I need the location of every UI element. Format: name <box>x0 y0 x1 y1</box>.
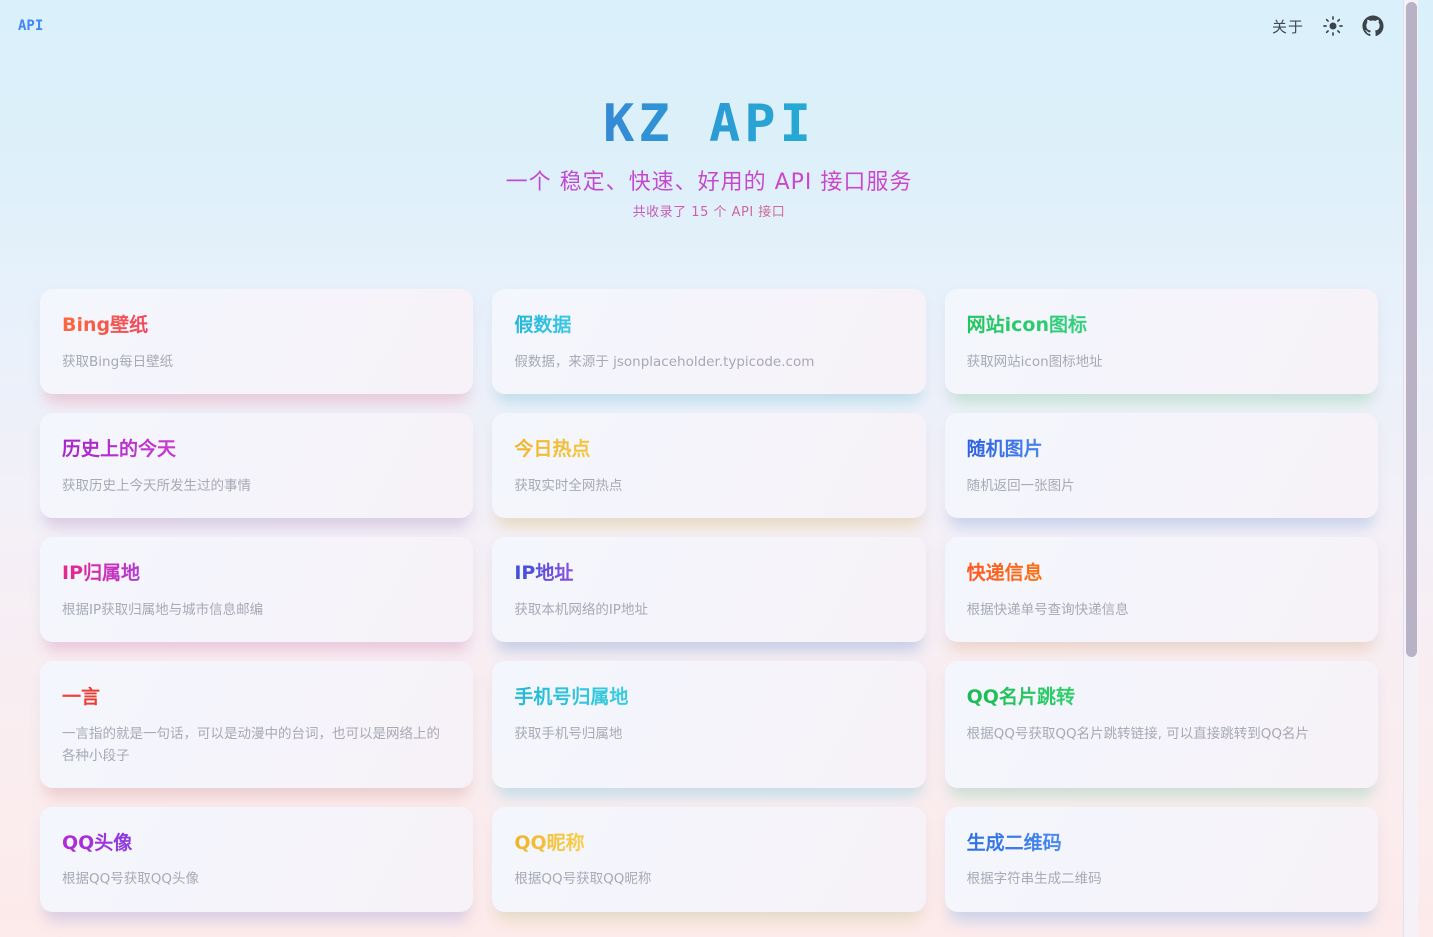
api-card[interactable]: QQ头像根据QQ号获取QQ头像 <box>40 807 473 912</box>
api-card-glow <box>45 778 468 798</box>
api-card-glow <box>497 508 920 528</box>
api-card-description: 获取历史上今天所发生过的事情 <box>62 475 451 497</box>
sun-icon[interactable] <box>1322 15 1344 37</box>
api-card-title: 今日热点 <box>514 437 590 462</box>
api-card-glow <box>497 632 920 652</box>
page-title: KZ API <box>0 92 1418 157</box>
api-card[interactable]: 随机图片随机返回一张图片 <box>945 413 1378 518</box>
api-card[interactable]: Bing壁纸获取Bing每日壁纸 <box>40 289 473 394</box>
api-card[interactable]: 手机号归属地获取手机号归属地 <box>492 661 925 787</box>
api-card-title: QQ名片跳转 <box>967 685 1075 710</box>
api-card-glow <box>950 902 1373 922</box>
api-card-description: 根据快递单号查询快递信息 <box>967 599 1356 621</box>
app-logo[interactable]: API <box>18 19 43 33</box>
api-card-description: 获取本机网络的IP地址 <box>514 599 903 621</box>
api-card-title: 一言 <box>62 685 100 710</box>
page-scrollbar[interactable] <box>1403 0 1418 937</box>
api-card-grid: Bing壁纸获取Bing每日壁纸假数据假数据，来源于 jsonplacehold… <box>0 239 1418 911</box>
api-card[interactable]: 网站icon图标获取网站icon图标地址 <box>945 289 1378 394</box>
api-card-title: 随机图片 <box>967 437 1043 462</box>
api-card-description: 获取网站icon图标地址 <box>967 351 1356 373</box>
api-card-glow <box>497 902 920 922</box>
page-root: API 关于 <box>0 0 1418 937</box>
api-card-description: 获取手机号归属地 <box>514 723 903 745</box>
api-card[interactable]: 一言一言指的就是一句话，可以是动漫中的台词，也可以是网络上的各种小段子 <box>40 661 473 787</box>
api-card[interactable]: QQ名片跳转根据QQ号获取QQ名片跳转链接, 可以直接跳转到QQ名片 <box>945 661 1378 787</box>
api-card-title: Bing壁纸 <box>62 313 148 338</box>
api-card-description: 根据字符串生成二维码 <box>967 868 1356 890</box>
api-card-title: 生成二维码 <box>967 831 1062 856</box>
api-card[interactable]: 快递信息根据快递单号查询快递信息 <box>945 537 1378 642</box>
api-card-glow <box>950 632 1373 652</box>
api-card-description: 一言指的就是一句话，可以是动漫中的台词，也可以是网络上的各种小段子 <box>62 723 451 768</box>
api-card-glow <box>950 778 1373 798</box>
hero-section: KZ API 一个 稳定、快速、好用的 API 接口服务 共收录了 15 个 A… <box>0 52 1418 239</box>
api-card-description: 获取实时全网热点 <box>514 475 903 497</box>
api-card-description: 获取Bing每日壁纸 <box>62 351 451 373</box>
api-card-glow <box>45 508 468 528</box>
api-card-glow <box>950 508 1373 528</box>
api-card-title: 网站icon图标 <box>967 313 1087 338</box>
api-card-title: IP地址 <box>514 561 573 586</box>
api-card[interactable]: 生成二维码根据字符串生成二维码 <box>945 807 1378 912</box>
api-count-label: 共收录了 15 个 API 接口 <box>0 205 1418 222</box>
api-card-glow <box>45 384 468 404</box>
api-card-description: 根据QQ号获取QQ名片跳转链接, 可以直接跳转到QQ名片 <box>967 723 1356 745</box>
nav-link-about[interactable]: 关于 <box>1272 16 1304 37</box>
api-card-glow <box>45 902 468 922</box>
api-card-description: 根据QQ号获取QQ昵称 <box>514 868 903 890</box>
scrollbar-thumb[interactable] <box>1406 2 1417 657</box>
api-card-title: 手机号归属地 <box>514 685 628 710</box>
api-card-description: 根据IP获取归属地与城市信息邮编 <box>62 599 451 621</box>
api-card-glow <box>497 778 920 798</box>
api-card-description: 根据QQ号获取QQ头像 <box>62 868 451 890</box>
api-card-description: 假数据，来源于 jsonplaceholder.typicode.com <box>514 351 903 373</box>
api-card-title: 历史上的今天 <box>62 437 176 462</box>
api-card-description: 随机返回一张图片 <box>967 475 1356 497</box>
api-card-title: 快递信息 <box>967 561 1043 586</box>
api-card-glow <box>45 632 468 652</box>
api-card[interactable]: IP归属地根据IP获取归属地与城市信息邮编 <box>40 537 473 642</box>
api-card-glow <box>950 384 1373 404</box>
api-card-glow <box>497 384 920 404</box>
api-card[interactable]: 历史上的今天获取历史上今天所发生过的事情 <box>40 413 473 518</box>
navbar-actions: 关于 <box>1272 15 1384 37</box>
github-icon[interactable] <box>1362 15 1384 37</box>
api-card[interactable]: 假数据假数据，来源于 jsonplaceholder.typicode.com <box>492 289 925 394</box>
api-card-title: QQ昵称 <box>514 831 584 856</box>
api-card[interactable]: 今日热点获取实时全网热点 <box>492 413 925 518</box>
api-card-title: 假数据 <box>514 313 571 338</box>
navbar: API 关于 <box>0 0 1418 52</box>
api-card[interactable]: QQ昵称根据QQ号获取QQ昵称 <box>492 807 925 912</box>
api-card-title: IP归属地 <box>62 561 140 586</box>
api-card[interactable]: IP地址获取本机网络的IP地址 <box>492 537 925 642</box>
page-subtitle: 一个 稳定、快速、好用的 API 接口服务 <box>0 169 1418 198</box>
api-card-title: QQ头像 <box>62 831 132 856</box>
